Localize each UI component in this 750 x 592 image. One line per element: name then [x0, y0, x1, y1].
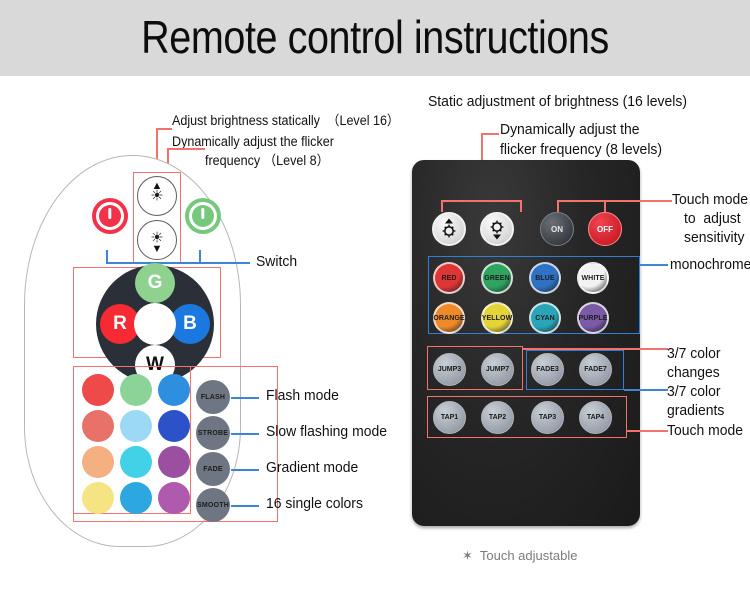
- brightness-down-button[interactable]: [480, 212, 514, 246]
- label-touch-sensitivity-3: sensitivity: [684, 228, 744, 247]
- color-button-orange-label: ORANGE: [433, 315, 464, 322]
- color-button-white-label: WHITE: [581, 275, 604, 282]
- color-button-green[interactable]: GREEN: [481, 262, 513, 294]
- leader-line-flicker-h: [167, 148, 205, 150]
- color-swatch[interactable]: [120, 410, 152, 442]
- color-button-blue[interactable]: BLUE: [529, 262, 561, 294]
- mode-button-fade[interactable]: FADE: [196, 452, 230, 486]
- mode-button-flash[interactable]: FLASH: [196, 380, 230, 414]
- label-touch-sensitivity-1: Touch mode: [672, 190, 748, 209]
- brightness-down-icon: [485, 217, 509, 241]
- mode-button-strobe[interactable]: STROBE: [196, 416, 230, 450]
- bracket-onoff-h: [557, 200, 672, 202]
- off-button[interactable]: OFF: [588, 212, 622, 246]
- color-button-cyan[interactable]: CYAN: [529, 302, 561, 334]
- leader-line-brightness-h: [156, 128, 172, 130]
- color-swatch[interactable]: [158, 482, 190, 514]
- leader-monochrome: [640, 264, 668, 266]
- brightness-up-button[interactable]: [432, 212, 466, 246]
- label-color-gradients-2: gradients: [667, 401, 724, 420]
- leader-strobe: [231, 433, 259, 435]
- color-button-white[interactable]: WHITE: [577, 262, 609, 294]
- sun-icon: ☀: [150, 189, 163, 204]
- mode-button-label: STROBE: [198, 430, 228, 437]
- switch-leader-h: [106, 262, 250, 264]
- mode-button-fade7[interactable]: FADE7: [579, 353, 612, 386]
- label-switch: Switch: [256, 252, 297, 271]
- tap-button-tap2[interactable]: TAP2: [481, 401, 514, 434]
- arrow-down-icon: ▼: [152, 244, 163, 255]
- label-static-brightness: Static adjustment of brightness (16 leve…: [428, 92, 687, 111]
- power-icon: [99, 205, 121, 227]
- tap-button-tap4-label: TAP4: [587, 414, 604, 421]
- mode-button-fade7-label: FADE7: [584, 366, 607, 373]
- mode-button-label: SMOOTH: [197, 502, 229, 509]
- mode-button-fade3[interactable]: FADE3: [531, 353, 564, 386]
- wheel-button-green[interactable]: G: [135, 263, 175, 303]
- label-color-gradients-1: 3/7 color: [667, 382, 721, 401]
- color-button-green-label: GREEN: [484, 275, 509, 282]
- label-flicker-right-line2: flicker frequency (8 levels): [500, 140, 662, 159]
- bracket-brightness-right-v: [520, 200, 522, 212]
- label-flash-mode: Flash mode: [266, 386, 339, 405]
- brightness-up-button[interactable]: ▲ ☀: [137, 176, 177, 216]
- label-touch-sensitivity-2: to adjust: [684, 209, 741, 228]
- mode-button-jump3-label: JUMP3: [438, 366, 461, 373]
- off-button-label: OFF: [597, 225, 613, 234]
- mode-button-label: FLASH: [201, 394, 225, 401]
- leader-touch-mode: [627, 430, 668, 432]
- label-16-single-colors: 16 single colors: [266, 494, 363, 513]
- tap-button-tap1[interactable]: TAP1: [433, 401, 466, 434]
- power-on-button[interactable]: [185, 198, 221, 234]
- color-button-orange[interactable]: ORANGE: [433, 302, 465, 334]
- label-color-changes-2: changes: [667, 363, 720, 382]
- color-swatch[interactable]: [82, 374, 114, 406]
- label-brightness-static: Adjust brightness statically （Level 16）: [172, 112, 400, 129]
- color-button-yellow-label: YELLOW: [482, 315, 513, 322]
- power-icon: [192, 205, 214, 227]
- footnote: ✶ Touch adjustable: [462, 548, 577, 564]
- bracket-brightness-top-h: [441, 200, 521, 202]
- color-swatch[interactable]: [82, 410, 114, 442]
- color-swatch[interactable]: [158, 446, 190, 478]
- brightness-down-button[interactable]: ☀ ▼: [137, 220, 177, 260]
- color-swatch[interactable]: [158, 374, 190, 406]
- label-gradient-mode: Gradient mode: [266, 458, 358, 477]
- tap-button-tap1-label: TAP1: [441, 414, 458, 421]
- wheel-button-center[interactable]: [134, 303, 176, 345]
- color-button-yellow[interactable]: YELLOW: [481, 302, 513, 334]
- tap-button-tap3[interactable]: TAP3: [531, 401, 564, 434]
- wheel-button-blue[interactable]: B: [170, 304, 210, 344]
- color-swatch[interactable]: [82, 482, 114, 514]
- mode-button-smooth[interactable]: SMOOTH: [196, 488, 230, 522]
- label-monochrome: monochrome: [670, 255, 750, 274]
- on-button-label: ON: [551, 225, 563, 234]
- leader-right-flicker-h: [481, 133, 499, 135]
- label-touch-mode: Touch mode: [667, 421, 743, 440]
- color-swatch[interactable]: [120, 374, 152, 406]
- tap-button-tap4[interactable]: TAP4: [579, 401, 612, 434]
- color-button-purple[interactable]: PURPLE: [577, 302, 609, 334]
- color-button-red[interactable]: RED: [433, 262, 465, 294]
- on-button[interactable]: ON: [540, 212, 574, 246]
- brightness-up-icon: [437, 217, 461, 241]
- page-title: Remote control instructions: [53, 6, 698, 68]
- leader-fade: [231, 469, 259, 471]
- mode-button-jump3[interactable]: JUMP3: [433, 353, 466, 386]
- mode-button-fade3-label: FADE3: [536, 366, 559, 373]
- label-flicker-dynamic-line2: frequency （Level 8）: [205, 152, 329, 169]
- bracket-onoff-left-v: [557, 200, 559, 212]
- label-flicker-right-line1: Dynamically adjust the: [500, 120, 640, 139]
- leader-smooth: [231, 505, 259, 507]
- mode-button-label: FADE: [203, 466, 222, 473]
- color-button-blue-label: BLUE: [535, 275, 554, 282]
- label-color-changes-1: 3/7 color: [667, 344, 721, 363]
- color-swatch[interactable]: [120, 482, 152, 514]
- tap-button-tap2-label: TAP2: [489, 414, 506, 421]
- color-button-cyan-label: CYAN: [535, 315, 555, 322]
- label-slow-flashing-mode: Slow flashing mode: [266, 422, 387, 441]
- color-swatch[interactable]: [120, 446, 152, 478]
- leader-color-gradients: [624, 389, 668, 391]
- color-button-purple-label: PURPLE: [579, 315, 608, 322]
- bracket-onoff-right-v: [604, 200, 606, 212]
- mode-button-jump7[interactable]: JUMP7: [481, 353, 514, 386]
- color-swatch[interactable]: [158, 410, 190, 442]
- bracket-brightness-left-v: [441, 200, 443, 212]
- leader-flash: [231, 397, 259, 399]
- color-button-red-label: RED: [441, 275, 456, 282]
- page-root: Remote control instructions Adjust brigh…: [0, 0, 750, 592]
- mode-button-jump7-label: JUMP7: [486, 366, 509, 373]
- power-off-button[interactable]: [92, 198, 128, 234]
- color-swatch[interactable]: [82, 446, 114, 478]
- tap-button-tap3-label: TAP3: [539, 414, 556, 421]
